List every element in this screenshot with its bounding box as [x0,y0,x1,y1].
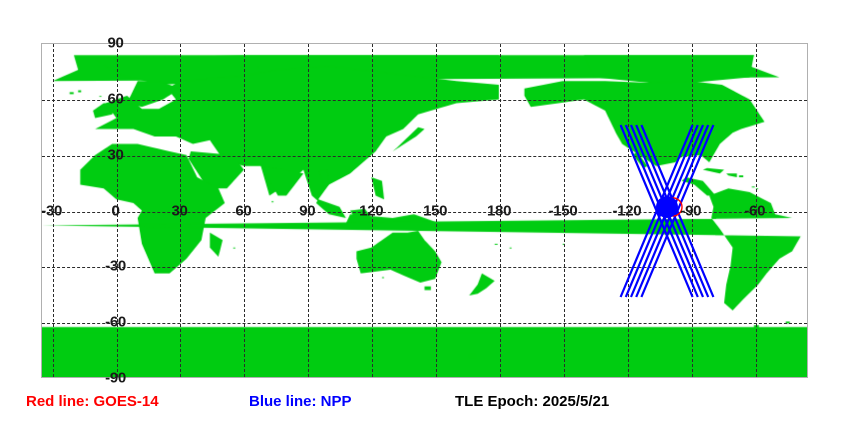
lat-tick-label: 0 [112,203,120,218]
lon-tick-label: 60 [235,203,251,218]
lon-tick-label: -120 [612,203,641,218]
gridline-latitude [42,100,807,101]
lat-tick-label: 60 [108,91,124,106]
lat-tick-label: 90 [108,36,124,51]
lat-tick-label: -30 [105,259,126,274]
gridline-latitude [42,156,807,157]
lon-tick-label: 90 [299,203,315,218]
lon-tick-label: 180 [487,203,511,218]
chart-legend: Red line: GOES-14 Blue line: NPP TLE Epo… [0,392,850,418]
lat-tick-label: 30 [108,147,124,162]
gridline-latitude [42,267,807,268]
lon-tick-label: -30 [41,203,62,218]
lon-tick-label: 150 [423,203,447,218]
gridline-latitude [42,323,807,324]
legend-tle-epoch: TLE Epoch: 2025/5/21 [455,392,609,412]
legend-blue-line-npp: Blue line: NPP [249,392,352,412]
lon-tick-label: 120 [359,203,383,218]
satellite-ground-track-map: -300306090120150180-150-120-609060300-30… [0,0,850,425]
lon-tick-label: -60 [744,203,765,218]
lon-tick-label: -150 [549,203,578,218]
lon-tick-label: 30 [171,203,187,218]
lat-tick-label: -60 [105,315,126,330]
lon-tick-label: -90 [680,203,701,218]
lat-tick-label: -90 [105,371,126,386]
legend-red-line-goes14: Red line: GOES-14 [26,392,159,412]
